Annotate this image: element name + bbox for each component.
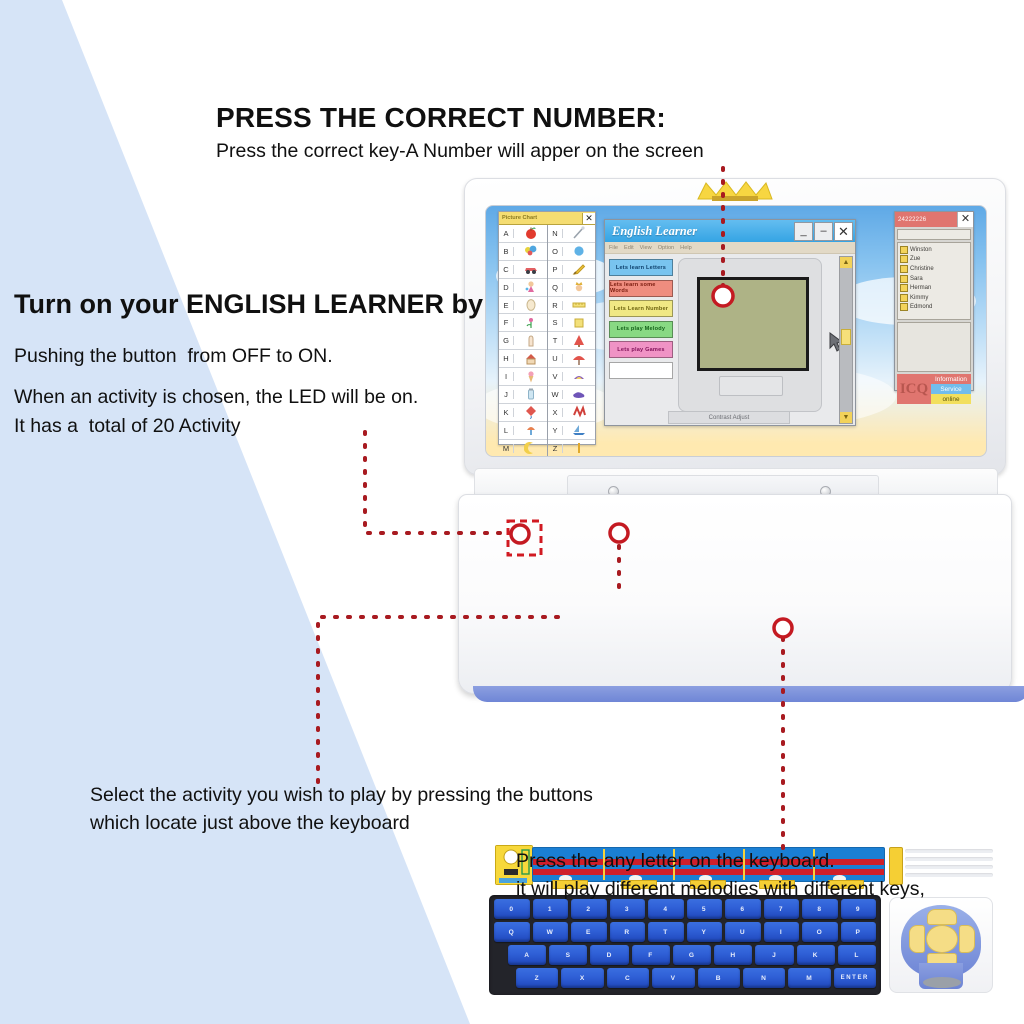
- picture-chart-letter: B: [499, 247, 514, 256]
- key-Z[interactable]: Z: [516, 968, 558, 988]
- picture-chart-row: I: [499, 368, 547, 386]
- key-3[interactable]: 3: [610, 899, 646, 919]
- picture-chart-letter: L: [499, 426, 514, 435]
- whale-icon: [572, 387, 586, 401]
- picture-chart-icon-cell: [563, 316, 595, 330]
- close-icon[interactable]: ✕: [834, 222, 853, 241]
- egg-icon: [524, 298, 538, 312]
- left-callout-line1: Pushing the button from OFF to ON.: [14, 345, 333, 368]
- direction-pad-shadow: [923, 977, 961, 988]
- close-icon[interactable]: ✕: [582, 213, 595, 224]
- laptop-base: 0123456789 QWERTYUIOP ASDFGHJKL ZXCVBNME…: [458, 494, 1012, 694]
- picture-chart-row: Q: [548, 279, 595, 297]
- picture-chart-icon-cell: [514, 298, 547, 312]
- picture-chart-icon-cell: [563, 387, 595, 401]
- window-control-buttons: _ – ✕: [794, 222, 855, 241]
- picture-chart-icon-cell: [563, 226, 595, 240]
- key-V[interactable]: V: [652, 968, 694, 988]
- picture-chart-letter: O: [548, 247, 563, 256]
- key-8[interactable]: 8: [802, 899, 838, 919]
- keyboard[interactable]: 0123456789 QWERTYUIOP ASDFGHJKL ZXCVBNME…: [489, 895, 881, 995]
- key-5[interactable]: 5: [687, 899, 723, 919]
- menu-item[interactable]: Option: [658, 245, 674, 251]
- picture-chart-icon-cell: [563, 441, 595, 455]
- contact-status-icon: [900, 303, 908, 311]
- picture-chart-row: L: [499, 422, 547, 440]
- picture-chart-row: C: [499, 261, 547, 279]
- picture-chart-icon-cell: [563, 280, 595, 294]
- minimize-icon[interactable]: _: [794, 222, 813, 241]
- picture-chart-letter: X: [548, 408, 563, 417]
- key-A[interactable]: A: [508, 945, 546, 965]
- picture-chart-row: K: [499, 404, 547, 422]
- key-7[interactable]: 7: [764, 899, 800, 919]
- picture-chart-icon-cell: [514, 387, 547, 401]
- activity-button[interactable]: Lets learn Letters: [609, 259, 673, 276]
- picture-chart-row: M: [499, 440, 547, 457]
- left-callout-title: Turn on your ENGLISH LEARNER by: [14, 289, 483, 320]
- picture-chart-row: Z: [548, 440, 595, 457]
- base-front-edge: [473, 686, 1024, 702]
- english-learner-title: English Learner: [605, 224, 794, 239]
- keyboard-row-bottom[interactable]: ZXCVBNMENTER: [494, 968, 876, 988]
- picture-chart-row: W: [548, 386, 595, 404]
- key-R[interactable]: R: [610, 922, 646, 942]
- key-L[interactable]: L: [838, 945, 876, 965]
- key-D[interactable]: D: [590, 945, 628, 965]
- picture-chart-icon-cell: [514, 226, 547, 240]
- picture-chart-letter: F: [499, 318, 514, 327]
- picture-chart-row: A: [499, 225, 547, 243]
- english-learner-titlebar: English Learner _ – ✕: [605, 220, 855, 242]
- picture-chart-row: B: [499, 243, 547, 261]
- square-icon: [572, 316, 586, 330]
- key-9[interactable]: 9: [841, 899, 877, 919]
- picture-chart-grid: ABCDEFGHIJKLM NOPQRSTUVWXYZ: [499, 225, 595, 457]
- ice-cream-icon: [524, 370, 538, 384]
- lcd-display-screen: Picture Chart ✕ ABCDEFGHIJKLM NOPQRSTUVW…: [485, 205, 987, 457]
- picture-chart-row: F: [499, 314, 547, 332]
- contact-status-icon: [900, 255, 908, 263]
- house-icon: [524, 352, 538, 366]
- icq-contact-row[interactable]: Herman: [900, 283, 970, 293]
- orange-icon: [572, 244, 586, 258]
- lid-latch-icon: [696, 179, 774, 201]
- activity-button[interactable]: [609, 362, 673, 379]
- picture-chart-letter: J: [499, 390, 514, 399]
- keyboard-row-qwerty[interactable]: QWERTYUIOP: [494, 922, 876, 942]
- contact-name: Kimmy: [910, 295, 928, 301]
- picture-chart-window[interactable]: Picture Chart ✕ ABCDEFGHIJKLM NOPQRSTUVW…: [498, 211, 596, 445]
- icq-contact-row[interactable]: Winston: [900, 245, 970, 255]
- key-Y[interactable]: Y: [687, 922, 723, 942]
- dpad-up-button[interactable]: [927, 909, 957, 925]
- english-learner-window[interactable]: English Learner _ – ✕ FileEditViewOption…: [604, 219, 856, 426]
- picture-chart-row: H: [499, 350, 547, 368]
- picture-chart-icon-cell: [514, 280, 547, 294]
- menu-item[interactable]: View: [640, 245, 652, 251]
- icq-tag[interactable]: Service: [931, 384, 971, 394]
- key-W[interactable]: W: [533, 922, 569, 942]
- picture-chart-letter: A: [499, 229, 514, 238]
- picture-chart-row: U: [548, 350, 595, 368]
- icq-footer: ICQ InformationServiceonline: [897, 374, 971, 404]
- close-icon[interactable]: ✕: [957, 212, 973, 227]
- picture-chart-icon-cell: [514, 423, 547, 437]
- bottom-right-callout-line2: it will play different melodies with dif…: [516, 878, 925, 901]
- icq-contact-row[interactable]: Kimmy: [900, 293, 970, 303]
- apple-icon: [524, 226, 538, 240]
- picture-chart-letter: M: [499, 444, 514, 453]
- icq-contact-row[interactable]: Sara: [900, 274, 970, 284]
- picture-chart-icon-cell: [514, 352, 547, 366]
- key-M[interactable]: M: [788, 968, 830, 988]
- direction-pad[interactable]: [889, 897, 993, 993]
- car-icon: [524, 262, 538, 276]
- left-callout-line2: When an activity is chosen, the LED will…: [14, 386, 418, 409]
- picture-chart-letter: T: [548, 336, 563, 345]
- keyboard-row-home[interactable]: ASDFGHJKL: [494, 945, 876, 965]
- bottom-left-callout-line1: Select the activity you wish to play by …: [90, 784, 593, 807]
- header-title: PRESS THE CORRECT NUMBER:: [216, 102, 666, 134]
- scroll-up-icon[interactable]: ▲: [840, 257, 852, 268]
- icq-number: 24222226: [895, 212, 957, 227]
- english-learner-menubar[interactable]: FileEditViewOptionHelp: [605, 242, 855, 254]
- needle-icon: [572, 226, 586, 240]
- bottom-right-callout-line1: Press the any letter on the keyboard.: [516, 850, 835, 873]
- icq-search-field[interactable]: [897, 229, 971, 240]
- contact-status-icon: [900, 284, 908, 292]
- key-P[interactable]: P: [841, 922, 877, 942]
- activity-button[interactable]: Lets Learn Number: [609, 300, 673, 317]
- picture-chart-letter: Y: [548, 426, 563, 435]
- picture-chart-icon-cell: [563, 334, 595, 348]
- contact-name: Christine: [910, 266, 934, 272]
- icq-tag[interactable]: Information: [931, 374, 971, 384]
- balloon-icon: [524, 244, 538, 258]
- picture-chart-right-column: NOPQRSTUVWXYZ: [547, 225, 595, 457]
- key-0[interactable]: 0: [494, 899, 530, 919]
- key-O[interactable]: O: [802, 922, 838, 942]
- picture-chart-row: T: [548, 332, 595, 350]
- key-F[interactable]: F: [632, 945, 670, 965]
- key-E[interactable]: E: [571, 922, 607, 942]
- picture-chart-letter: H: [499, 354, 514, 363]
- contrast-adjust-label[interactable]: Contrast Adjust: [668, 411, 790, 424]
- picture-chart-icon-cell: [563, 405, 595, 419]
- picture-chart-icon-cell: [563, 244, 595, 258]
- umbrella-icon: [572, 352, 586, 366]
- english-learner-laptop: Picture Chart ✕ ABCDEFGHIJKLM NOPQRSTUVW…: [440, 168, 1020, 713]
- icq-contact-row[interactable]: Christine: [900, 264, 970, 274]
- key-H[interactable]: H: [714, 945, 752, 965]
- key-N[interactable]: N: [743, 968, 785, 988]
- picture-chart-letter: I: [499, 372, 514, 381]
- key-X[interactable]: X: [561, 968, 603, 988]
- picture-chart-letter: D: [499, 283, 514, 292]
- picture-chart-letter: E: [499, 301, 514, 310]
- picture-chart-letter: R: [548, 301, 563, 310]
- key-2[interactable]: 2: [571, 899, 607, 919]
- picture-chart-row: R: [548, 297, 595, 315]
- picture-chart-letter: U: [548, 354, 563, 363]
- picture-chart-row: N: [548, 225, 595, 243]
- left-callout-line3: It has a total of 20 Activity: [14, 415, 241, 438]
- key-U[interactable]: U: [725, 922, 761, 942]
- picture-chart-letter: G: [499, 336, 514, 345]
- contact-status-icon: [900, 246, 908, 254]
- icq-tag-list: InformationServiceonline: [931, 374, 971, 404]
- activity-button[interactable]: Lets play Melody: [609, 321, 673, 338]
- queen-icon: [572, 280, 586, 294]
- activity-button[interactable]: Lets play Games: [609, 341, 673, 358]
- scroll-down-icon[interactable]: ▼: [840, 412, 852, 423]
- picture-chart-row: E: [499, 297, 547, 315]
- header-subtitle: Press the correct key-A Number will appe…: [216, 140, 704, 163]
- contact-name: Winston: [910, 247, 932, 253]
- icq-titlebar: 24222226 ✕: [895, 212, 973, 227]
- device-lcd-panel: [697, 277, 809, 371]
- jar-icon: [524, 387, 538, 401]
- tree-icon: [572, 334, 586, 348]
- key-Q[interactable]: Q: [494, 922, 530, 942]
- key-1[interactable]: 1: [533, 899, 569, 919]
- english-learner-body: Lets learn LettersLets learn some WordsL…: [605, 254, 855, 426]
- picture-chart-letter: W: [548, 390, 563, 399]
- yacht-icon: [572, 423, 586, 437]
- picture-chart-letter: Q: [548, 283, 563, 292]
- menu-item[interactable]: Edit: [624, 245, 634, 251]
- key-6[interactable]: 6: [725, 899, 761, 919]
- activity-button[interactable]: Lets learn some Words: [609, 280, 673, 297]
- picture-chart-row: J: [499, 386, 547, 404]
- menu-item[interactable]: File: [609, 245, 618, 251]
- key-4[interactable]: 4: [648, 899, 684, 919]
- picture-chart-letter: C: [499, 265, 514, 274]
- key-B[interactable]: B: [698, 968, 740, 988]
- device-lcd-button[interactable]: [719, 376, 783, 396]
- picture-chart-row: X: [548, 404, 595, 422]
- key-enter[interactable]: ENTER: [834, 968, 876, 988]
- zipper-icon: [572, 441, 586, 455]
- key-I[interactable]: I: [764, 922, 800, 942]
- xylophone-icon: [572, 405, 586, 419]
- doll-icon: [524, 280, 538, 294]
- picture-chart-icon-cell: [514, 334, 547, 348]
- contact-name: Edmond: [910, 304, 932, 310]
- picture-chart-titlebar: Picture Chart ✕: [499, 212, 595, 225]
- contact-name: Herman: [910, 285, 931, 291]
- bottom-left-callout-line2: which locate just above the keyboard: [90, 812, 410, 835]
- picture-chart-letter: V: [548, 372, 563, 381]
- picture-chart-row: O: [548, 243, 595, 261]
- picture-chart-icon-cell: [514, 262, 547, 276]
- scrollbar-thumb[interactable]: [841, 329, 851, 345]
- key-T[interactable]: T: [648, 922, 684, 942]
- dpad-center-button[interactable]: [926, 925, 958, 953]
- dpad-right-button[interactable]: [959, 925, 975, 953]
- icq-message-pane: [897, 322, 971, 372]
- ruler-icon: [572, 298, 586, 312]
- menu-item[interactable]: Help: [680, 245, 692, 251]
- icq-contact-list[interactable]: WinstonZueChristineSaraHermanKimmyEdmond: [897, 242, 971, 320]
- picture-chart-left-column: ABCDEFGHIJKLM: [499, 225, 547, 457]
- maximize-icon[interactable]: –: [814, 222, 833, 241]
- keyboard-row-numbers[interactable]: 0123456789: [494, 899, 876, 919]
- contact-name: Zue: [910, 256, 920, 262]
- picture-chart-letter: K: [499, 408, 514, 417]
- picture-chart-row: D: [499, 279, 547, 297]
- picture-chart-icon-cell: [514, 370, 547, 384]
- glove-icon: [524, 334, 538, 348]
- picture-chart-icon-cell: [514, 244, 547, 258]
- device-lcd-frame: [678, 258, 822, 412]
- dpad-left-button[interactable]: [909, 925, 925, 953]
- direction-pad-buttons[interactable]: [909, 909, 973, 967]
- picture-chart-icon-cell: [563, 423, 595, 437]
- picture-chart-row: Y: [548, 422, 595, 440]
- picture-chart-icon-cell: [563, 298, 595, 312]
- key-C[interactable]: C: [607, 968, 649, 988]
- picture-chart-row: P: [548, 261, 595, 279]
- key-S[interactable]: S: [549, 945, 587, 965]
- icq-window[interactable]: 24222226 ✕ WinstonZueChristineSaraHerman…: [894, 211, 974, 391]
- contact-name: Sara: [910, 276, 923, 282]
- vase-icon: [572, 370, 586, 384]
- lamp-icon: [524, 423, 538, 437]
- icq-logo: ICQ: [897, 374, 931, 404]
- kite-icon: [524, 405, 538, 419]
- key-K[interactable]: K: [797, 945, 835, 965]
- picture-chart-letter: P: [548, 265, 563, 274]
- picture-chart-icon-cell: [514, 441, 547, 455]
- picture-chart-icon-cell: [514, 405, 547, 419]
- picture-chart-icon-cell: [563, 370, 595, 384]
- pencil-icon: [572, 262, 586, 276]
- key-J[interactable]: J: [755, 945, 793, 965]
- picture-chart-icon-cell: [514, 316, 547, 330]
- key-G[interactable]: G: [673, 945, 711, 965]
- picture-chart-title: Picture Chart: [499, 215, 582, 221]
- icq-contact-row[interactable]: Edmond: [900, 303, 970, 313]
- icq-contact-row[interactable]: Zue: [900, 255, 970, 265]
- picture-chart-icon-cell: [563, 352, 595, 366]
- contact-status-icon: [900, 265, 908, 273]
- vertical-scrollbar[interactable]: ▲ ▼: [839, 256, 853, 424]
- picture-chart-icon-cell: [563, 262, 595, 276]
- flower-icon: [524, 316, 538, 330]
- picture-chart-row: V: [548, 368, 595, 386]
- icq-tag[interactable]: online: [931, 394, 971, 404]
- picture-chart-row: G: [499, 332, 547, 350]
- picture-chart-letter: Z: [548, 444, 563, 453]
- picture-chart-row: S: [548, 314, 595, 332]
- contact-status-icon: [900, 294, 908, 302]
- picture-chart-letter: S: [548, 318, 563, 327]
- activity-button-list: Lets learn LettersLets learn some WordsL…: [609, 259, 673, 379]
- laptop-lid: Picture Chart ✕ ABCDEFGHIJKLM NOPQRSTUVW…: [464, 178, 1006, 475]
- moon-icon: [524, 441, 538, 455]
- contact-status-icon: [900, 275, 908, 283]
- picture-chart-letter: N: [548, 229, 563, 238]
